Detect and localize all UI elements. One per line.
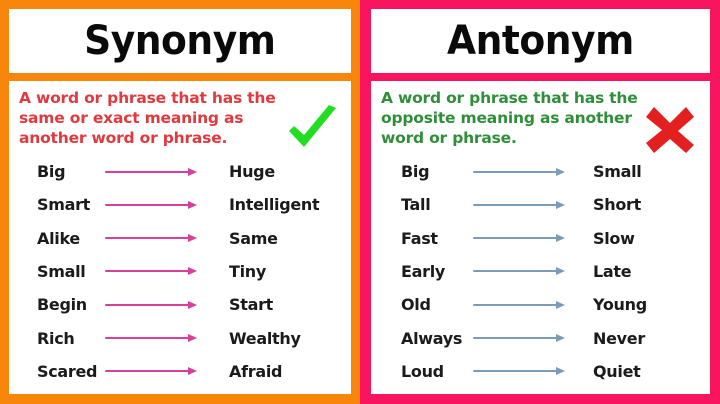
antonym-arrow-cell (473, 171, 583, 173)
synonym-pair-row: Scared Afraid (19, 355, 341, 388)
synonym-target-word: Intelligent (221, 195, 319, 214)
synonym-arrow-cell (105, 304, 221, 306)
arrow-right-icon (105, 171, 197, 173)
antonym-title-card: Antonym (371, 9, 710, 73)
antonym-source-word: Big (381, 162, 473, 181)
antonym-target-word: Late (583, 262, 631, 281)
antonym-pair-row: Early Late (381, 255, 700, 288)
arrow-right-icon (105, 270, 197, 272)
antonym-pair-row: Tall Short (381, 188, 700, 221)
synonym-definition: A word or phrase that has the same or ex… (19, 89, 277, 149)
synonym-source-word: Small (19, 262, 105, 281)
antonym-pairs-list: Big Small Tall Short Fast (381, 155, 700, 388)
synonym-target-word: Wealthy (221, 329, 301, 348)
arrow-right-icon (105, 370, 197, 372)
synonym-title-card: Synonym (9, 9, 351, 73)
antonym-pair-row: Old Young (381, 288, 700, 321)
synonym-pair-row: Big Huge (19, 155, 341, 188)
arrow-right-icon (473, 304, 565, 306)
antonym-target-word: Small (583, 162, 641, 181)
synonym-target-word: Start (221, 295, 273, 314)
antonym-pair-row: Loud Quiet (381, 355, 700, 388)
antonym-source-word: Early (381, 262, 473, 281)
arrow-right-icon (105, 204, 197, 206)
antonym-target-word: Short (583, 195, 641, 214)
antonym-target-word: Slow (583, 229, 635, 248)
antonym-source-word: Fast (381, 229, 473, 248)
synonym-body-card: A word or phrase that has the same or ex… (9, 81, 351, 394)
arrow-right-icon (105, 304, 197, 306)
antonym-source-word: Loud (381, 362, 473, 381)
cross-mark-icon (644, 105, 696, 160)
synonym-source-word: Smart (19, 195, 105, 214)
arrow-right-icon (473, 171, 565, 173)
synonym-target-word: Afraid (221, 362, 282, 381)
synonym-target-word: Tiny (221, 262, 266, 281)
arrow-right-icon (473, 337, 565, 339)
arrow-right-icon (105, 237, 197, 239)
synonym-source-word: Begin (19, 295, 105, 314)
antonym-title: Antonym (447, 21, 634, 61)
synonym-pair-row: Small Tiny (19, 255, 341, 288)
synonym-antonym-comparison-board: Synonym A word or phrase that has the sa… (0, 0, 720, 404)
antonym-source-word: Old (381, 295, 473, 314)
synonym-source-word: Big (19, 162, 105, 181)
antonym-source-word: Tall (381, 195, 473, 214)
synonym-arrow-cell (105, 270, 221, 272)
antonym-source-word: Always (381, 329, 473, 348)
antonym-target-word: Quiet (583, 362, 640, 381)
synonym-pair-row: Smart Intelligent (19, 188, 341, 221)
arrow-right-icon (473, 204, 565, 206)
antonym-arrow-cell (473, 270, 583, 272)
synonym-arrow-cell (105, 370, 221, 372)
arrow-right-icon (473, 237, 565, 239)
antonym-pair-row: Big Small (381, 155, 700, 188)
synonym-arrow-cell (105, 237, 221, 239)
antonym-arrow-cell (473, 237, 583, 239)
arrow-right-icon (473, 270, 565, 272)
antonym-definition: A word or phrase that has the opposite m… (381, 89, 639, 149)
synonym-pair-row: Rich Wealthy (19, 321, 341, 354)
synonym-title: Synonym (84, 21, 275, 61)
synonym-target-word: Same (221, 229, 278, 248)
synonym-pair-row: Begin Start (19, 288, 341, 321)
antonym-panel: Antonym A word or phrase that has the op… (360, 0, 720, 404)
synonym-target-word: Huge (221, 162, 275, 181)
synonym-arrow-cell (105, 171, 221, 173)
arrow-right-icon (473, 370, 565, 372)
antonym-arrow-cell (473, 337, 583, 339)
antonym-arrow-cell (473, 304, 583, 306)
antonym-pair-row: Always Never (381, 321, 700, 354)
synonym-source-word: Scared (19, 362, 105, 381)
synonym-panel: Synonym A word or phrase that has the sa… (0, 0, 360, 404)
synonym-pair-row: Alike Same (19, 222, 341, 255)
antonym-target-word: Young (583, 295, 647, 314)
synonym-source-word: Alike (19, 229, 105, 248)
synonym-source-word: Rich (19, 329, 105, 348)
synonym-arrow-cell (105, 337, 221, 339)
arrow-right-icon (105, 337, 197, 339)
antonym-arrow-cell (473, 370, 583, 372)
antonym-body-card: A word or phrase that has the opposite m… (371, 81, 710, 394)
antonym-arrow-cell (473, 204, 583, 206)
antonym-pair-row: Fast Slow (381, 222, 700, 255)
synonym-arrow-cell (105, 204, 221, 206)
synonym-pairs-list: Big Huge Smart Intelligent Alike (19, 155, 341, 388)
antonym-target-word: Never (583, 329, 645, 348)
check-mark-icon (285, 103, 341, 160)
